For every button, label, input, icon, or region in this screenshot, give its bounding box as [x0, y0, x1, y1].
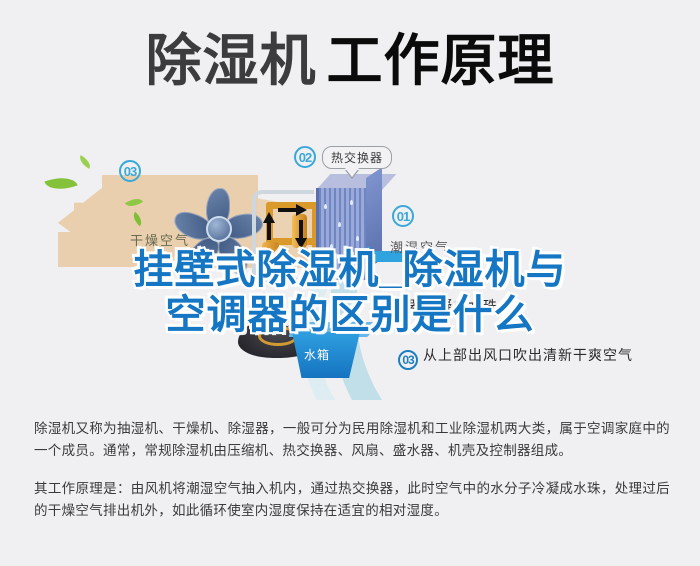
article-paragraph-1: 除湿机又称为抽湿机、干燥机、除湿器，一般可分为民用除湿机和工业除湿机两大类，属于… — [34, 418, 670, 462]
callout-tail — [345, 168, 359, 177]
water-tank-label: 水箱 — [304, 346, 330, 363]
condensation-droplet — [338, 222, 341, 227]
leaf-icon — [77, 155, 93, 169]
condensation-droplet — [324, 204, 327, 209]
page-root: 除湿机工作原理 — [0, 0, 700, 566]
badge-number: 02 — [294, 146, 316, 168]
diagram-badge-02: 02 — [294, 146, 316, 168]
condensation-droplet — [356, 236, 359, 241]
diagram-badge-01: 01 — [392, 205, 414, 227]
caption-row-03: 03从上部出风口吹出清新干爽空气 — [398, 345, 633, 370]
heat-exchanger-callout-label: 热交换器 — [331, 151, 383, 165]
flow-arrow-stem — [278, 208, 296, 212]
flow-arrow-right-icon — [296, 204, 307, 216]
page-title-part-1: 除湿机 — [146, 29, 317, 92]
page-title-part-2: 工作原理 — [327, 29, 555, 92]
badge-number: 03 — [119, 160, 141, 182]
leaf-icon — [44, 171, 77, 195]
article-paragraph-2: 其工作原理是：由风机将潮湿空气抽入机内，通过热交换器，此时空气中的水分子冷凝成水… — [34, 478, 670, 522]
page-title: 除湿机工作原理 — [0, 30, 700, 92]
heat-exchanger-callout: 热交换器 — [322, 146, 392, 169]
article-body: 除湿机又称为抽湿机、干燥机、除湿器，一般可分为民用除湿机和工业除湿机两大类，属于… — [34, 418, 670, 538]
overlay-headline-line-1: 挂壁式除湿机_除湿机与 — [0, 248, 700, 293]
fan-hub — [206, 216, 232, 242]
diagram-badge-03: 03 — [119, 160, 141, 182]
dry-air-label: 干燥空气 — [130, 230, 190, 249]
condensation-droplet — [350, 200, 353, 205]
overlay-headline-line-2: 空调器的区别是什么 — [0, 293, 700, 338]
flow-arrow-stem — [299, 220, 303, 238]
flow-arrow-up-icon — [263, 212, 275, 223]
caption-text: 从上部出风口吹出清新干爽空气 — [423, 347, 633, 363]
overlay-headline: 挂壁式除湿机_除湿机与 空调器的区别是什么 — [0, 248, 700, 338]
caption-number: 03 — [398, 350, 418, 370]
badge-number: 01 — [392, 205, 414, 227]
flow-arrow-stem — [267, 222, 271, 240]
hero-illustration: 除湿机工作原理 — [0, 0, 700, 400]
